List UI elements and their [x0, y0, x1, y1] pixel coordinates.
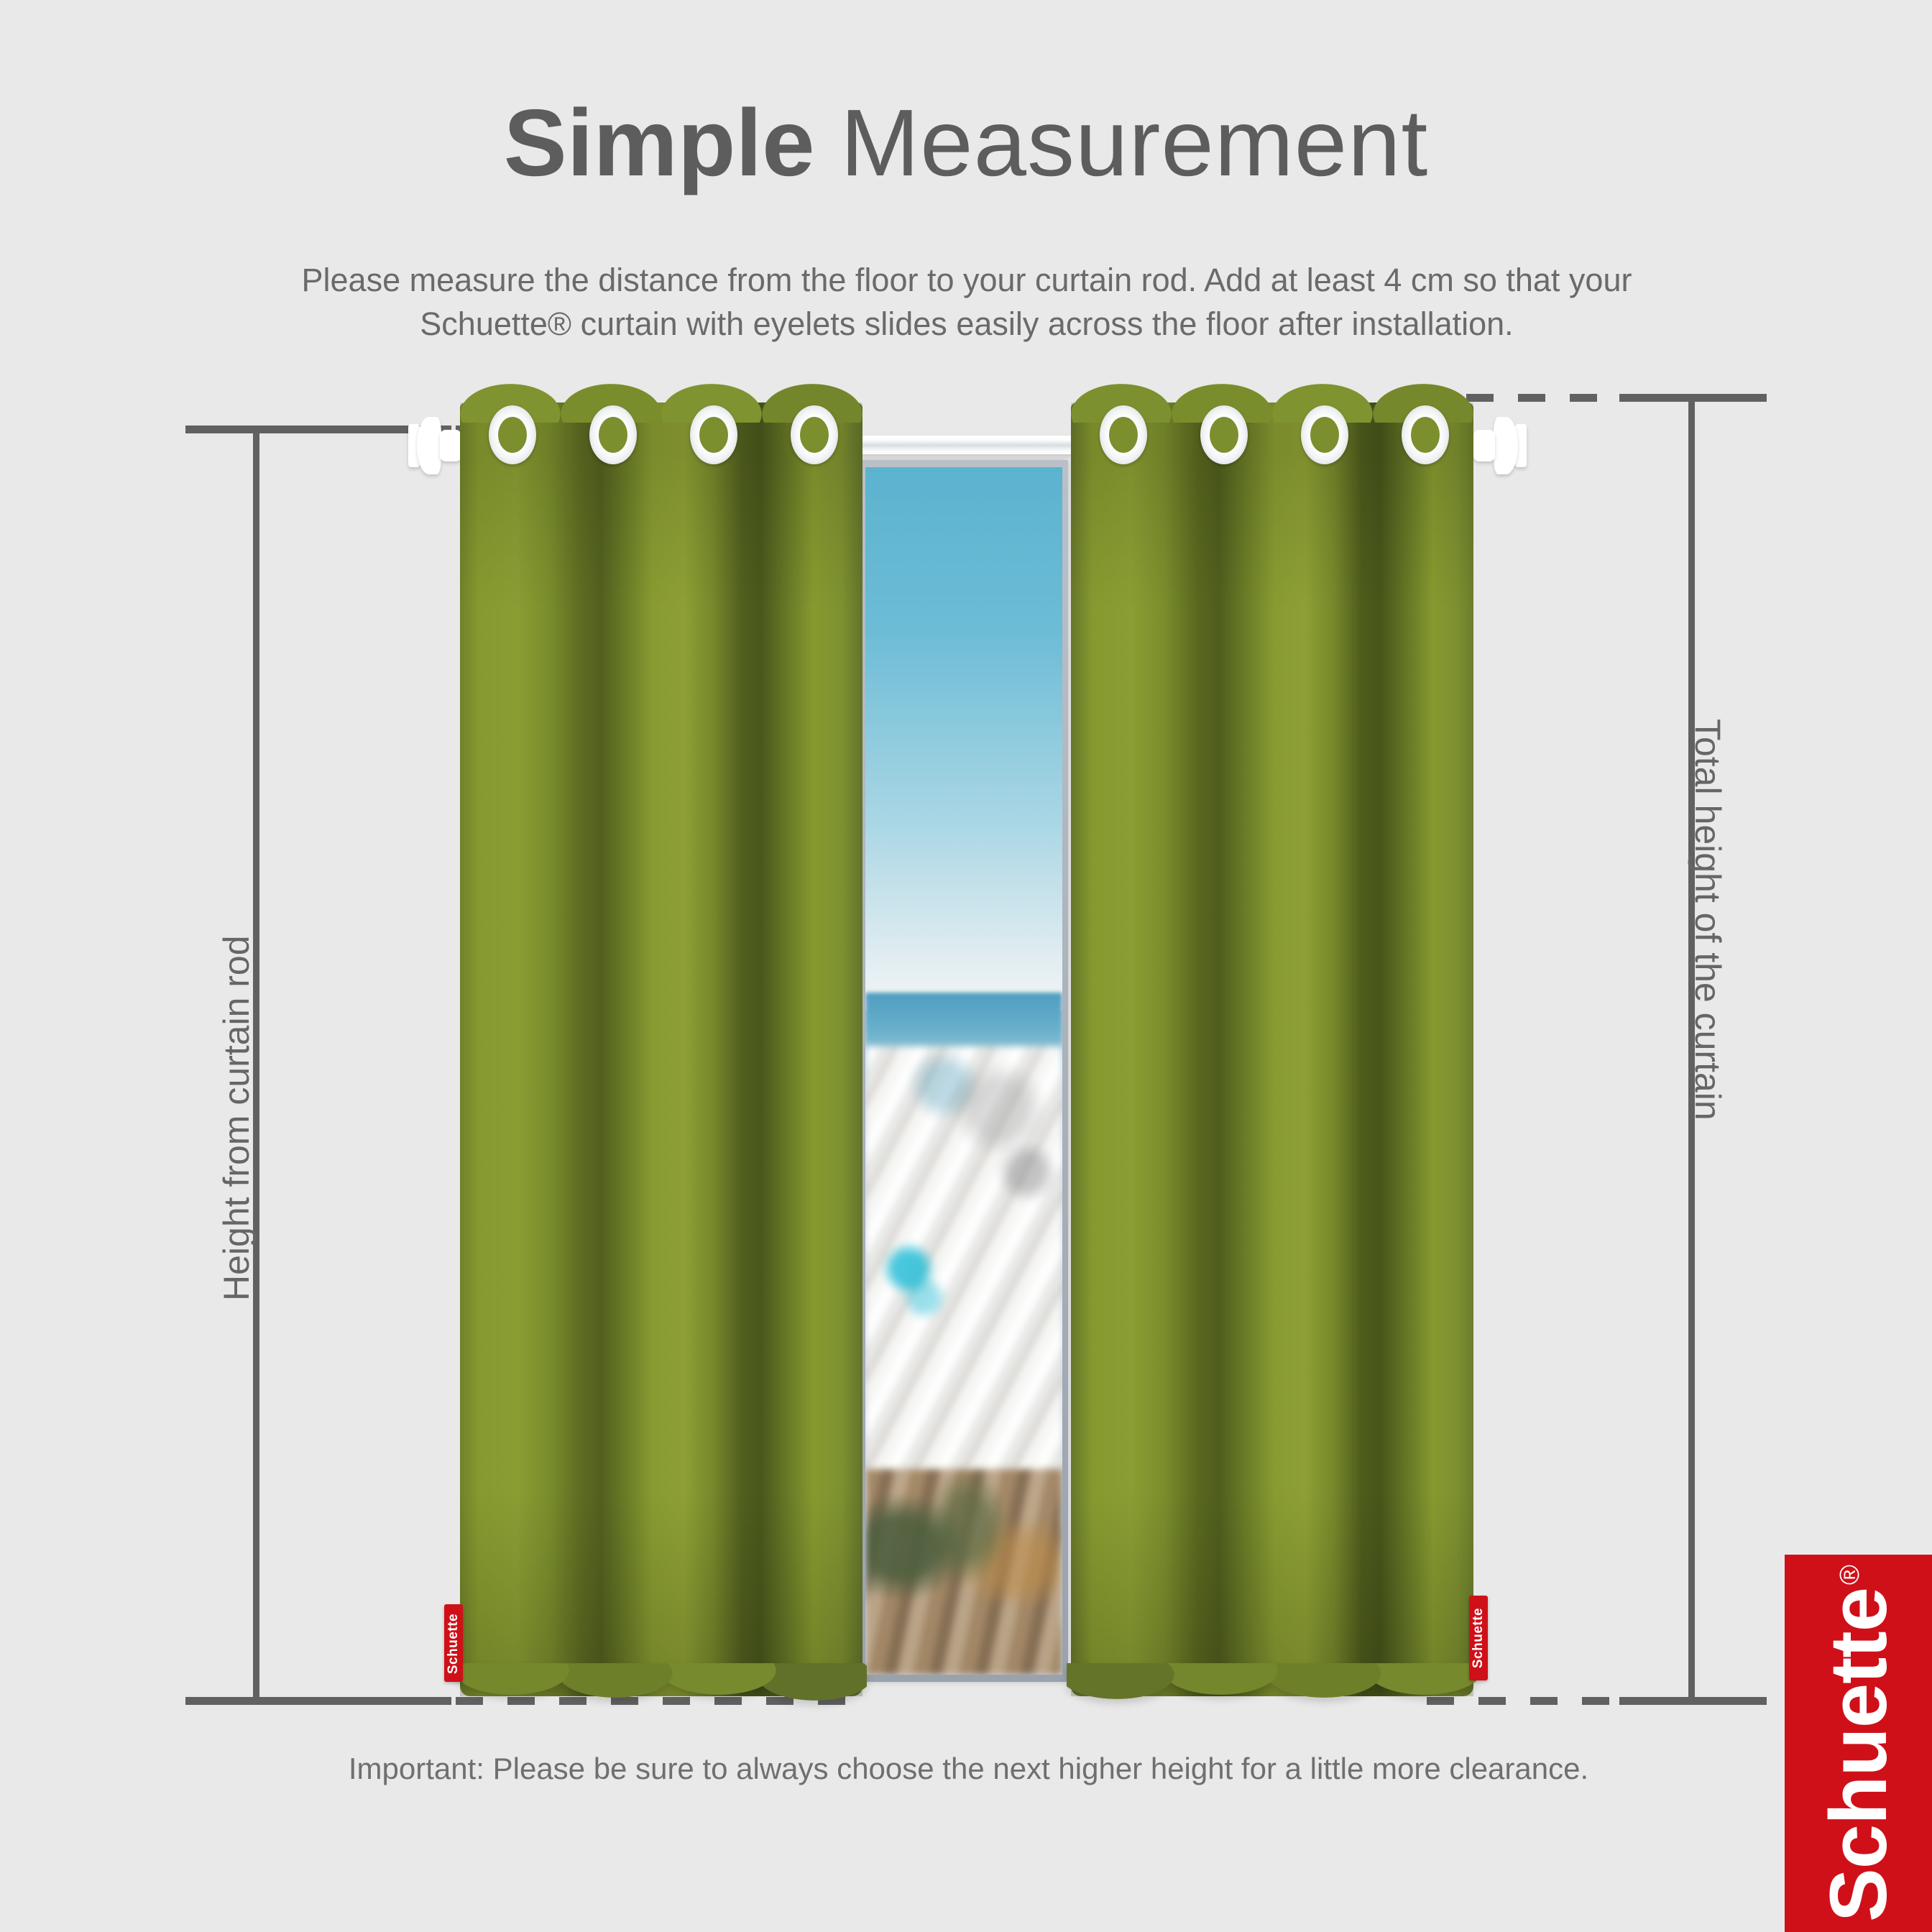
left-guide-bottom-cap [185, 1697, 451, 1705]
curtain-brand-tag-right: Schuette [1469, 1596, 1488, 1680]
infographic-canvas: Simple Measurement Please measure the di… [0, 0, 1932, 1932]
eyelet-icon [1100, 405, 1147, 464]
right-dimension-label: Total height of the curtain [1687, 719, 1729, 1121]
window-scene-sky [865, 467, 1062, 1011]
eyelet-icon [1301, 405, 1348, 464]
brand-banner: Schuette® [1785, 1555, 1932, 1932]
page-subtitle-line2: Schuette® curtain with eyelets slides ea… [201, 303, 1732, 346]
left-dimension-label: Height from curtain rod [216, 935, 257, 1301]
curtain-right-fabric [1071, 402, 1473, 1696]
curtain-brand-tag-left: Schuette [444, 1604, 463, 1682]
eyelet-icon [690, 405, 737, 464]
curtain-brand-tag-left-label: Schuette [446, 1605, 461, 1683]
curtain-panel-right: Schuette [1071, 402, 1473, 1696]
eyelet-icon [1200, 405, 1248, 464]
registered-mark-icon: ® [1834, 1565, 1864, 1585]
window-scene-rocks [865, 1469, 1062, 1675]
page-title: Simple Measurement [0, 93, 1932, 193]
eyelet-icon [589, 405, 637, 464]
window-glass [865, 467, 1062, 1675]
page-title-light: Measurement [840, 90, 1428, 195]
eyelet-icon [791, 405, 838, 464]
curtain-panel-left: Schuette [460, 402, 862, 1696]
curtain-left-fabric [460, 402, 862, 1696]
window-scene-town [865, 1046, 1062, 1529]
page-subtitle: Please measure the distance from the flo… [201, 259, 1732, 346]
curtain-left-hem [456, 1663, 867, 1721]
page-title-strong: Simple [504, 90, 815, 195]
curtain-brand-tag-right-label: Schuette [1471, 1596, 1486, 1680]
window-frame [860, 460, 1068, 1682]
footer-note: Important: Please be sure to always choo… [165, 1752, 1772, 1786]
brand-banner-logo: Schuette® [1818, 1565, 1899, 1922]
brand-name: Schuette [1813, 1588, 1903, 1922]
eyelet-icon [1402, 405, 1449, 464]
right-guide-bottom-cap [1619, 1697, 1767, 1705]
eyelet-icon [489, 405, 536, 464]
page-subtitle-line1: Please measure the distance from the flo… [302, 262, 1632, 298]
curtain-right-hem [1067, 1663, 1478, 1721]
